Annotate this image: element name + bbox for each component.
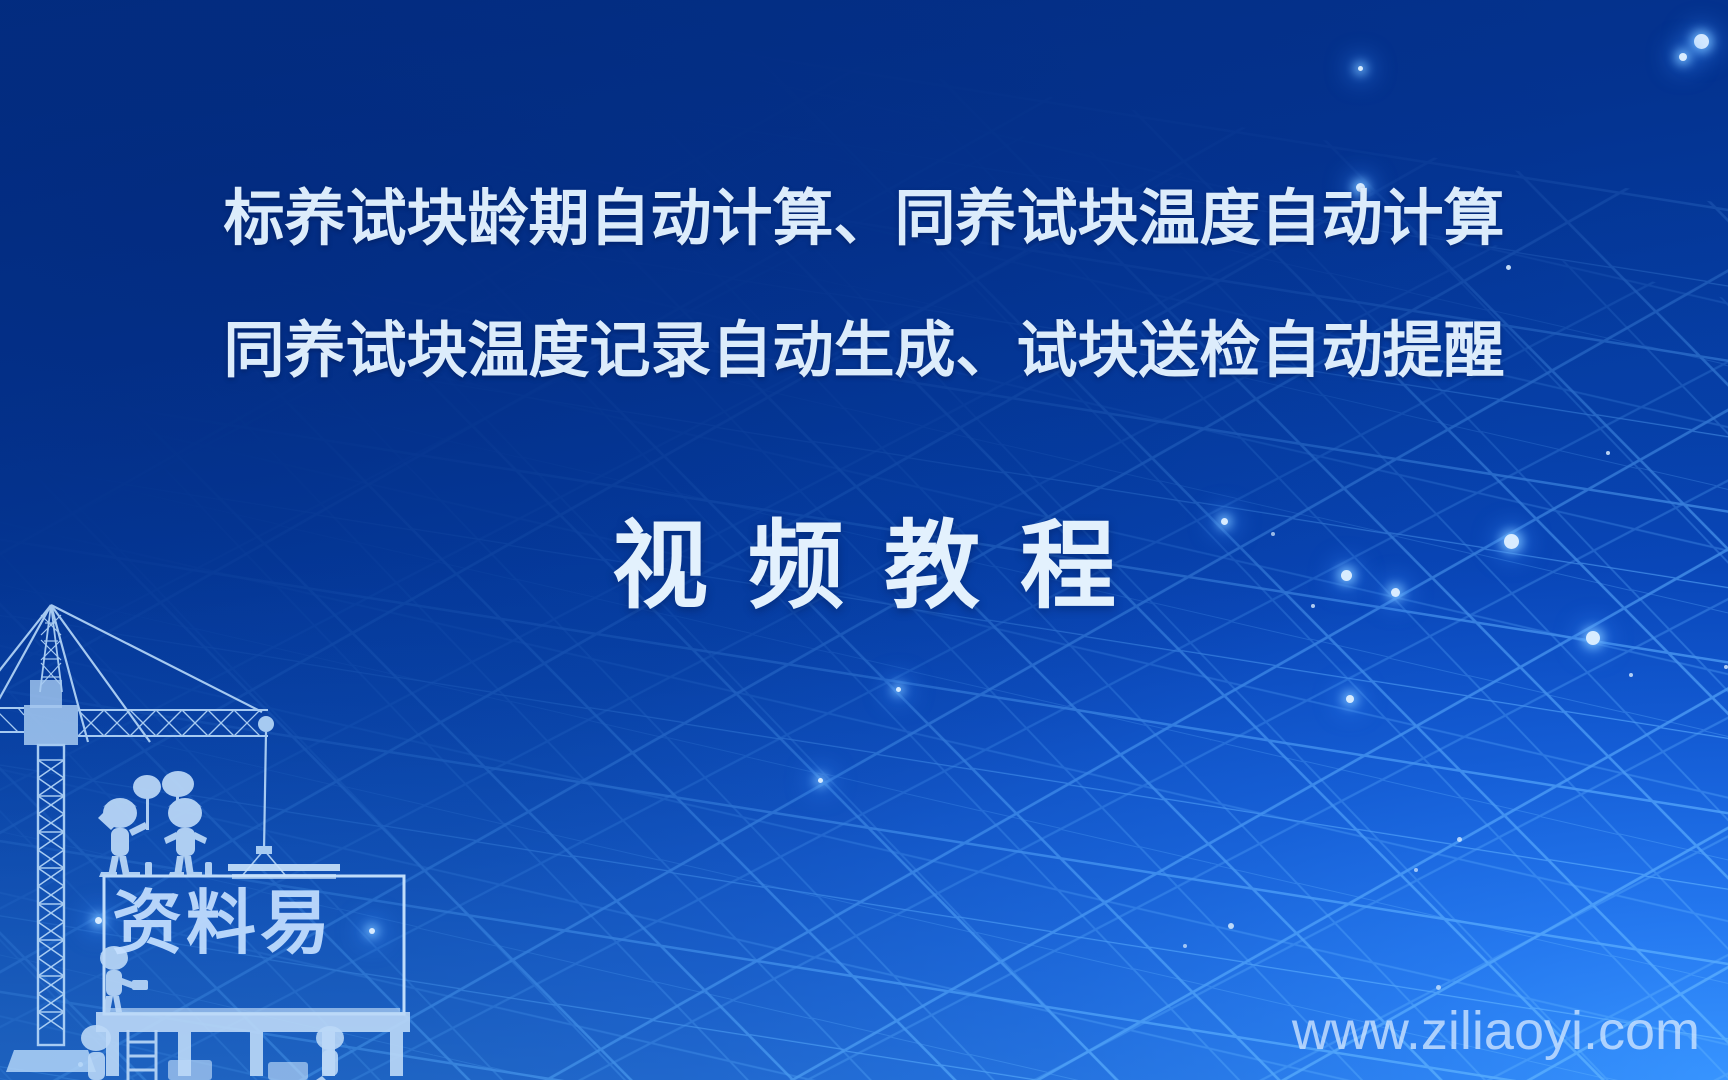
subtitle-line-2: 同养试块温度记录自动生成、试块送检自动提醒 <box>0 300 1728 389</box>
subtitle-line-1: 标养试块龄期自动计算、同养试块温度自动计算 <box>0 168 1728 257</box>
main-title: 视频教程 <box>0 488 1728 627</box>
watermark-url: www.ziliaoyi.com <box>1292 1000 1700 1062</box>
slide-canvas: 资料易 标养试块龄期自动计算、同养试块温度自动计算 同养试块温度记录自动生成、试… <box>0 0 1728 1080</box>
tower-crane-icon <box>0 605 286 1072</box>
construction-illustration: 资料易 <box>0 560 420 1080</box>
billboard-label: 资料易 <box>112 867 334 968</box>
construction-workers-icon <box>98 771 212 877</box>
